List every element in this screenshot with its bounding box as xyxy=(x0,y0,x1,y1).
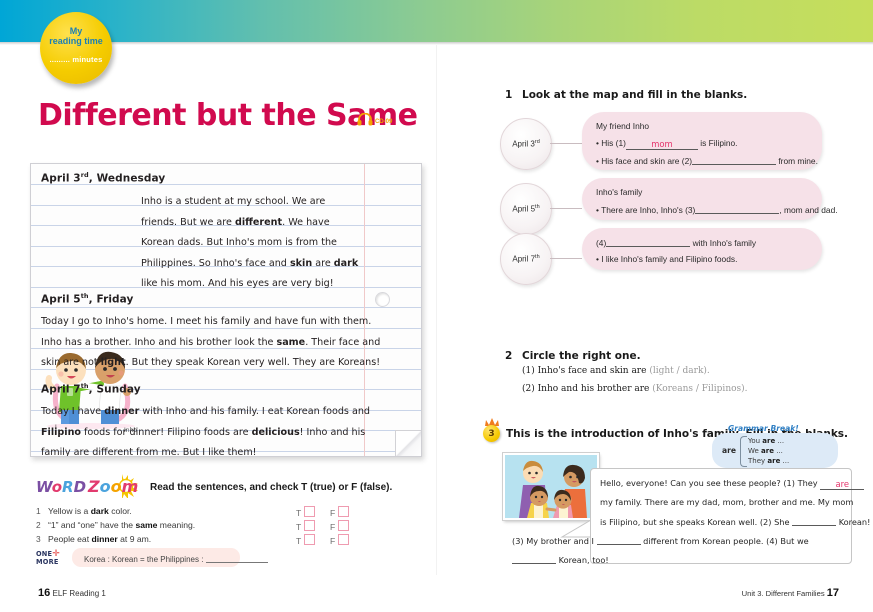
word-zoom-logo: WoRD Zoom xyxy=(36,472,146,498)
notebook-hole-punch xyxy=(375,292,390,307)
diary-entry-text: Today I have dinner with Inho and his fa… xyxy=(41,402,370,457)
footer-right-page: 17 xyxy=(827,587,839,599)
grammar-break-brace xyxy=(740,436,747,467)
diary-notebook: I Inho April 3rd, WednesdayInho is a stu… xyxy=(30,163,422,457)
exercise3-number-badge: 3 xyxy=(483,425,500,442)
exercise1-date-circle: April 5th xyxy=(500,183,552,235)
exercise1-number: 1 xyxy=(505,89,512,101)
answer-blank[interactable] xyxy=(512,554,556,564)
header-gradient-bar xyxy=(0,0,873,42)
exercise1-title: Look at the map and fill in the blanks. xyxy=(522,89,747,101)
introduction-line: is Filipino, but she speaks Korean well.… xyxy=(600,516,870,527)
word-zoom-item-number: 3 xyxy=(36,534,41,544)
one-more-blank[interactable] xyxy=(206,553,268,563)
reading-time-line2: reading time xyxy=(40,36,112,46)
true-checkbox[interactable]: T xyxy=(296,506,315,518)
grammar-break-title: Grammar Break! xyxy=(728,424,799,433)
reading-time-minutes: ......... minutes xyxy=(40,55,112,65)
diary-entry-text: Today I go to Inho's home. I meet his fa… xyxy=(41,312,380,374)
answer-blank[interactable]: are xyxy=(820,479,864,490)
answer-blank[interactable] xyxy=(606,237,690,247)
word-zoom-item-text: “1” and “one” have the same meaning. xyxy=(48,520,195,530)
grammar-break-example: They are ... xyxy=(748,457,789,465)
exercise1-bubble-line: • There are Inho, Inho's (3), mom and da… xyxy=(596,204,838,215)
headphone-icon xyxy=(357,113,373,126)
true-checkbox[interactable]: T xyxy=(296,534,315,546)
introduction-line: Hello, everyone! Can you see these peopl… xyxy=(600,478,864,490)
footer-right: Unit 3. Different Families 17 xyxy=(742,587,839,599)
diary-entry-date: April 3rd, Wednesday xyxy=(41,171,165,185)
word-zoom-zoom: Zoom xyxy=(88,477,138,496)
one-more-badge: ONE✛ MORE xyxy=(36,550,66,568)
answer-blank[interactable] xyxy=(695,204,779,214)
false-checkbox[interactable]: F xyxy=(330,534,349,546)
answer-blank[interactable] xyxy=(597,535,641,545)
reading-time-line1: My xyxy=(40,12,112,36)
exercise2-item[interactable]: (1) Inho's face and skin are (light / da… xyxy=(522,366,710,376)
reading-time-badge: My reading time ......... minutes xyxy=(40,12,112,84)
notebook-rule xyxy=(31,307,421,308)
footer-left-book: ELF Reading 1 xyxy=(52,589,105,598)
exercise2-title: Circle the right one. xyxy=(522,350,641,362)
exercise1-bubble-line: (4) with Inho's family xyxy=(596,237,756,248)
family-photo-illustration xyxy=(503,453,599,520)
exercise1-bubble-line: • His face and skin are (2) from mine. xyxy=(596,155,818,166)
exercise2-number: 2 xyxy=(505,350,512,362)
exercise1-date-circle: April 7th xyxy=(500,233,552,285)
notebook-corner-fold xyxy=(395,430,422,457)
one-more-analogy: Korea : Korean = the Philippines : xyxy=(84,555,203,564)
introduction-line: (3) My brother and I different from Kore… xyxy=(512,535,809,546)
one-more-line2: MORE xyxy=(36,558,59,566)
diary-entry-date: April 5th, Friday xyxy=(41,292,133,306)
diary-entry-text: Inho is a student at my school. We arefr… xyxy=(141,192,358,295)
exercise1-bubble-heading: My friend Inho xyxy=(596,121,649,131)
one-more-line1: ONE xyxy=(36,550,52,558)
exercise2-item[interactable]: (2) Inho and his brother are (Koreans / … xyxy=(522,384,748,394)
footer-left: 16 ELF Reading 1 xyxy=(38,587,106,599)
exercise1-bubble-heading: Inho's family xyxy=(596,187,642,197)
answer-blank[interactable]: mom xyxy=(626,139,698,150)
answer-blank[interactable] xyxy=(692,155,776,165)
audio-track-label: CD-09 xyxy=(375,119,392,125)
grammar-break-example: You are ... xyxy=(748,437,784,445)
word-zoom-item-number: 1 xyxy=(36,506,41,516)
footer-left-page: 16 xyxy=(38,587,50,599)
word-zoom-item-text: People eat dinner at 9 am. xyxy=(48,534,151,544)
false-checkbox[interactable]: F xyxy=(330,506,349,518)
word-zoom-instruction: Read the sentences, and check T (true) o… xyxy=(150,482,392,493)
workbook-spread: My reading time ......... minutes Differ… xyxy=(0,0,873,612)
exercise1-connector xyxy=(550,258,582,259)
word-zoom-word: WoRD xyxy=(36,478,86,496)
true-checkbox[interactable]: T xyxy=(296,520,315,532)
introduction-line: Korean, too! xyxy=(512,554,609,565)
introduction-line: my family. There are my dad, mom, brothe… xyxy=(600,497,853,507)
diary-entry-date: April 7th, Sunday xyxy=(41,382,141,396)
one-more-text: Korea : Korean = the Philippines : xyxy=(84,553,268,564)
exercise1-connector xyxy=(550,208,582,209)
exercise1-date-circle: April 3rd xyxy=(500,118,552,170)
grammar-break-example: We are ... xyxy=(748,447,783,455)
grammar-break-key: are xyxy=(722,446,736,455)
false-checkbox[interactable]: F xyxy=(330,520,349,532)
word-zoom-item-text: Yellow is a dark color. xyxy=(48,506,132,516)
footer-right-unit: Unit 3. Different Families xyxy=(742,589,825,598)
exercise1-bubble-line: • His (1)mom is Filipino. xyxy=(596,138,737,150)
page-spine xyxy=(436,45,437,575)
exercise1-bubble-line: • I like Inho's family and Filipino food… xyxy=(596,254,737,264)
exercise1-connector xyxy=(550,143,582,144)
word-zoom-item-number: 2 xyxy=(36,520,41,530)
answer-blank[interactable] xyxy=(792,516,836,526)
